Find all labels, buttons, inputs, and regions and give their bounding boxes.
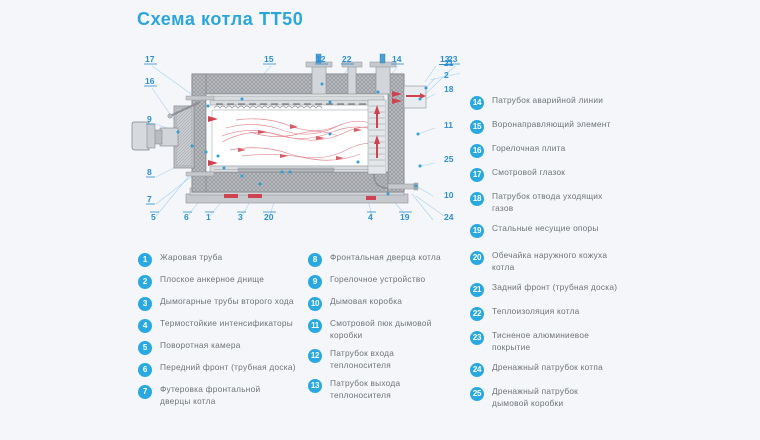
callout-22: 22 — [342, 54, 352, 64]
callout-1: 1 — [206, 212, 211, 222]
legend-item[interactable]: 15 Воронаправляющий элемент — [470, 119, 640, 134]
legend-column-2: 8 Фронтальная дверца котла 9 Горелочное … — [308, 252, 468, 408]
legend-label: Фронтальная дверца котла — [330, 252, 441, 264]
legend-badge: 18 — [470, 192, 484, 206]
legend-badge: 25 — [470, 387, 484, 401]
legend-badge: 15 — [470, 120, 484, 134]
legend-item[interactable]: 17 Смотровой глазок — [470, 167, 640, 182]
legend-item[interactable]: 7 Футеровка фронтальной дверцы котла — [138, 384, 303, 407]
legend-label: Жаровая труба — [160, 252, 222, 264]
legend-label: Термостойкие интенсификаторы — [160, 318, 293, 330]
callout-6: 6 — [184, 212, 189, 222]
callout-20: 20 — [264, 212, 274, 222]
diagram-right-callouts: 13 21 2 18 11 25 10 24 — [438, 44, 470, 230]
legend-label: Горелочное устройство — [330, 274, 425, 286]
legend-label: Смотровой пюк дымовой коробки — [330, 318, 432, 341]
diagram-page: Схема котла ТТ50 — [0, 0, 760, 440]
legend-badge: 20 — [470, 251, 484, 265]
legend-item[interactable]: 5 Поворотная камера — [138, 340, 303, 355]
legend-item[interactable]: 13 Патрубок выхода теплоносителя — [308, 378, 468, 401]
legend-badge: 22 — [470, 307, 484, 321]
legend-badge: 16 — [470, 144, 484, 158]
callout-16: 16 — [145, 76, 155, 86]
legend-badge: 5 — [138, 341, 152, 355]
legend-item[interactable]: 9 Горелочное устройство — [308, 274, 468, 289]
legend-column-1: 1 Жаровая труба 2 Плоское анкерное днище… — [138, 252, 303, 414]
legend-item[interactable]: 19 Стальные несущие опоры — [470, 223, 640, 238]
legend-label: Дымовая коробка — [330, 296, 402, 308]
legend-label: Тисненое алюминиевое покрытие — [492, 330, 589, 353]
callout-14: 14 — [392, 54, 402, 64]
legend-item[interactable]: 8 Фронтальная дверца котла — [308, 252, 468, 267]
legend-item[interactable]: 2 Плоское анкерное днище — [138, 274, 303, 289]
callout-19: 19 — [400, 212, 410, 222]
legend-label: Передний фронт (трубная доска) — [160, 362, 296, 374]
callout-15: 15 — [264, 54, 274, 64]
legend-label: Патрубок выхода теплоносителя — [330, 378, 400, 401]
legend-badge: 2 — [138, 275, 152, 289]
legend-label: Горелочная плита — [492, 143, 565, 155]
legend-badge: 8 — [308, 253, 322, 267]
legend-label: Теплоизоляция котла — [492, 306, 580, 318]
callout-5: 5 — [151, 212, 156, 222]
legend-badge: 7 — [138, 385, 152, 399]
legend-badge: 11 — [308, 319, 322, 333]
boiler-diagram: 17 16 15 12 22 14 23 9 8 7 — [130, 44, 460, 230]
legend-column-4: 20 Обечайка наружного кожуха котла 21 За… — [470, 250, 640, 418]
legend-item[interactable]: 11 Смотровой пюк дымовой коробки — [308, 318, 468, 341]
legend-item[interactable]: 3 Дымогарные трубы второго хода — [138, 296, 303, 311]
legend-item[interactable]: 1 Жаровая труба — [138, 252, 303, 267]
legend-item[interactable]: 20 Обечайка наружного кожуха котла — [470, 250, 640, 273]
legend-label: Патрубок отвода уходящих газов — [492, 191, 603, 214]
legend-item[interactable]: 22 Теплоизоляция котла — [470, 306, 640, 321]
legend-item[interactable]: 4 Термостойкие интенсификаторы — [138, 318, 303, 333]
legend-badge: 10 — [308, 297, 322, 311]
legend-item[interactable]: 14 Патрубок аварийной линии — [470, 95, 640, 110]
legend-badge: 9 — [308, 275, 322, 289]
legend-label: Дренажный патрубок дымовой коробки — [492, 386, 578, 409]
legend-label: Обечайка наружного кожуха котла — [492, 250, 607, 273]
legend-label: Стальные несущие опоры — [492, 223, 599, 235]
legend-badge: 17 — [470, 168, 484, 182]
legend-item[interactable]: 10 Дымовая коробка — [308, 296, 468, 311]
legend-label: Дымогарные трубы второго хода — [160, 296, 294, 308]
legend-item[interactable]: 23 Тисненое алюминиевое покрытие — [470, 330, 640, 353]
callout-9: 9 — [147, 114, 152, 124]
legend-label: Патрубок аварийной линии — [492, 95, 603, 107]
callout-17: 17 — [145, 54, 155, 64]
callout-8: 8 — [147, 167, 152, 177]
callout-3: 3 — [238, 212, 243, 222]
legend-item[interactable]: 24 Дренажный патрубок котпа — [470, 362, 640, 377]
legend-item[interactable]: 25 Дренажный патрубок дымовой коробки — [470, 386, 640, 409]
legend-badge: 19 — [470, 224, 484, 238]
legend-item[interactable]: 21 Задний фронт (трубная доска) — [470, 282, 640, 297]
legend-badge: 3 — [138, 297, 152, 311]
legend-badge: 14 — [470, 96, 484, 110]
legend-label: Смотровой глазок — [492, 167, 565, 179]
legend-label: Поворотная камера — [160, 340, 241, 352]
legend-item[interactable]: 16 Горелочная плита — [470, 143, 640, 158]
legend-label: Футеровка фронтальной дверцы котла — [160, 384, 260, 407]
legend-badge: 4 — [138, 319, 152, 333]
legend-item[interactable]: 12 Патрубок входа теплоносителя — [308, 348, 468, 371]
legend-badge: 23 — [470, 331, 484, 345]
legend-badge: 6 — [138, 363, 152, 377]
legend-badge: 12 — [308, 349, 322, 363]
legend-badge: 1 — [138, 253, 152, 267]
legend-column-3: 14 Патрубок аварийной линии 15 Воронапра… — [470, 95, 640, 247]
legend-label: Задний фронт (трубная доска) — [492, 282, 617, 294]
legend-badge: 13 — [308, 379, 322, 393]
page-title: Схема котла ТТ50 — [137, 9, 303, 30]
callout-12: 12 — [316, 54, 326, 64]
legend-item[interactable]: 18 Патрубок отвода уходящих газов — [470, 191, 640, 214]
callout-7: 7 — [147, 194, 152, 204]
callout-4: 4 — [368, 212, 373, 222]
legend-label: Плоское анкерное днище — [160, 274, 264, 286]
legend-label: Патрубок входа теплоносителя — [330, 348, 394, 371]
legend-item[interactable]: 6 Передний фронт (трубная доска) — [138, 362, 303, 377]
legend-label: Дренажный патрубок котпа — [492, 362, 603, 374]
legend-badge: 24 — [470, 363, 484, 377]
legend-badge: 21 — [470, 283, 484, 297]
legend-label: Воронаправляющий элемент — [492, 119, 611, 131]
